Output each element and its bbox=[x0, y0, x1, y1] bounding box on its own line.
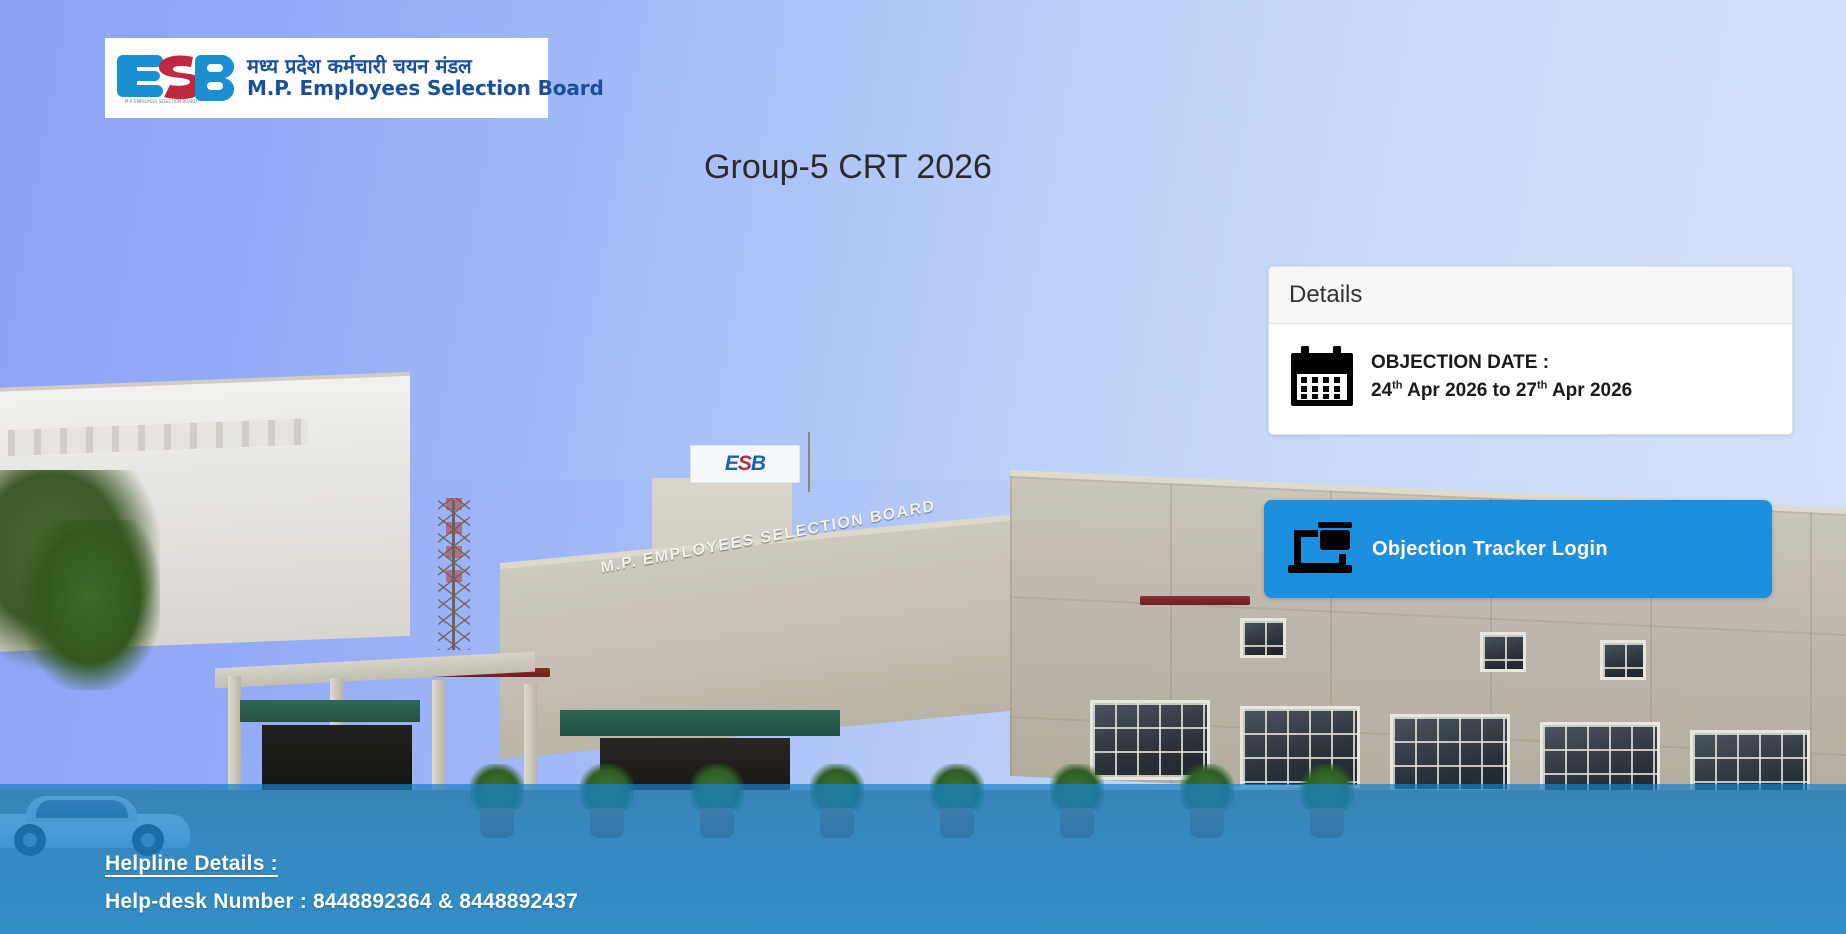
esb-logo-hindi-line: मध्य प्रदेश कर्मचारी चयन मंडल bbox=[247, 56, 604, 78]
laptop-monitor-icon bbox=[1286, 520, 1354, 578]
esb-logo[interactable]: M.P. EMPLOYEES SELECTION BOARD मध्य प्रद… bbox=[105, 38, 548, 118]
objection-date-value: 24th Apr 2026 to 27th Apr 2026 bbox=[1371, 377, 1632, 405]
porch-beam bbox=[215, 652, 535, 689]
objection-date-end: Apr 2026 bbox=[1547, 380, 1632, 401]
roof-esb-sign-text: ESB bbox=[725, 452, 765, 476]
objection-date-start-day: 24 bbox=[1371, 380, 1392, 401]
window-upper-3 bbox=[1600, 640, 1646, 680]
entrance-canopy-left bbox=[240, 700, 420, 722]
calendar-icon bbox=[1289, 346, 1355, 408]
objection-tracker-login-button[interactable]: Objection Tracker Login bbox=[1264, 500, 1772, 598]
helpline-details-heading: Helpline Details : bbox=[105, 852, 578, 876]
objection-date-start-sup: th bbox=[1392, 380, 1402, 392]
porch-column-4 bbox=[524, 684, 537, 796]
page-title: Group-5 CRT 2026 bbox=[0, 148, 1846, 187]
details-card: Details bbox=[1268, 266, 1793, 435]
details-card-body: OBJECTION DATE : 24th Apr 2026 to 27th A… bbox=[1269, 324, 1792, 434]
entrance-canopy-main bbox=[560, 710, 840, 736]
objection-date-middle: Apr 2026 to 27 bbox=[1403, 380, 1537, 401]
esb-logo-english-line: M.P. Employees Selection Board bbox=[247, 78, 604, 100]
esb-logo-text: मध्य प्रदेश कर्मचारी चयन मंडल M.P. Emplo… bbox=[247, 56, 604, 99]
flagpole bbox=[808, 432, 810, 492]
footer-overlay-band: Helpline Details : Help-desk Number : 84… bbox=[0, 784, 1846, 934]
page-root: ESB M.P. EMPLOYEES SELECTION BOARD bbox=[0, 0, 1846, 934]
porch-column-3 bbox=[432, 680, 445, 796]
esb-logo-mark-icon: M.P. EMPLOYEES SELECTION BOARD bbox=[115, 47, 239, 109]
porch-column-1 bbox=[228, 676, 241, 794]
roof-esb-sign: ESB bbox=[690, 445, 800, 483]
foliage-left-2 bbox=[20, 520, 160, 690]
helpdesk-number-text: Help-desk Number : 8448892364 & 84488924… bbox=[105, 890, 578, 914]
objection-tracker-login-label: Objection Tracker Login bbox=[1372, 538, 1608, 561]
awning-1 bbox=[1140, 596, 1250, 605]
objection-date-label: OBJECTION DATE : bbox=[1371, 349, 1632, 377]
objection-date-block: OBJECTION DATE : 24th Apr 2026 to 27th A… bbox=[1371, 349, 1632, 404]
window-upper-2 bbox=[1480, 632, 1526, 672]
esb-logo-subtext: M.P. EMPLOYEES SELECTION BOARD bbox=[125, 99, 197, 105]
details-card-header: Details bbox=[1269, 267, 1792, 324]
objection-date-end-sup: th bbox=[1537, 380, 1547, 392]
window-upper-1 bbox=[1240, 618, 1286, 658]
footer-content: Helpline Details : Help-desk Number : 84… bbox=[105, 852, 578, 914]
antenna-tower-mast bbox=[452, 500, 455, 650]
